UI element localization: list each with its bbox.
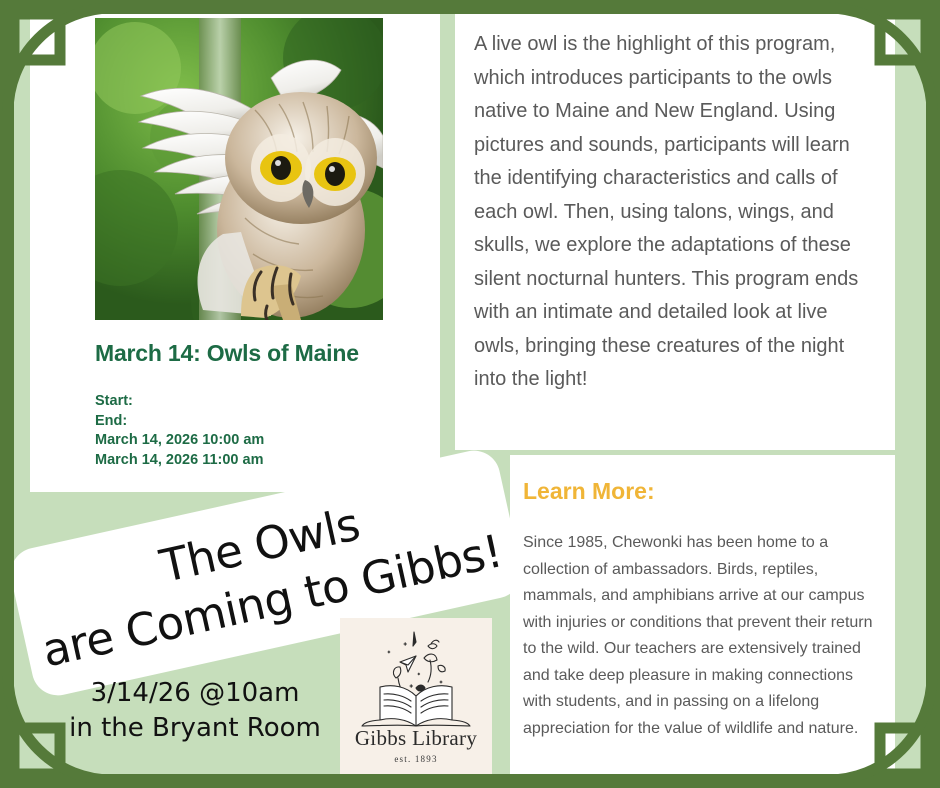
owl-photo — [95, 18, 383, 320]
corner-ornament-bottom-right — [828, 676, 940, 788]
end-value: March 14, 2026 11:00 am — [95, 451, 425, 471]
corner-ornament-bottom-left — [0, 676, 112, 788]
corner-ornament-top-left — [0, 0, 112, 112]
gibbs-library-logo: Gibbs Library est. 1893 — [340, 618, 492, 776]
start-label: Start: — [95, 392, 425, 412]
poster-canvas: March 14: Owls of Maine Start: End: Marc… — [0, 0, 940, 788]
frame-right — [926, 0, 940, 788]
event-title: March 14: Owls of Maine — [95, 340, 425, 367]
start-value: March 14, 2026 10:00 am — [95, 431, 425, 451]
end-label: End: — [95, 412, 425, 432]
event-schedule: Start: End: March 14, 2026 10:00 am Marc… — [95, 392, 425, 470]
learn-more-heading: Learn More: — [523, 478, 655, 505]
program-description: A live owl is the highlight of this prog… — [474, 28, 874, 397]
logo-name: Gibbs Library — [340, 726, 492, 751]
corner-ornament-top-right — [828, 0, 940, 112]
logo-established: est. 1893 — [340, 754, 492, 764]
frame-bottom — [0, 774, 940, 788]
frame-top — [0, 0, 940, 14]
open-book-icon — [340, 622, 492, 732]
frame-left — [0, 0, 14, 788]
